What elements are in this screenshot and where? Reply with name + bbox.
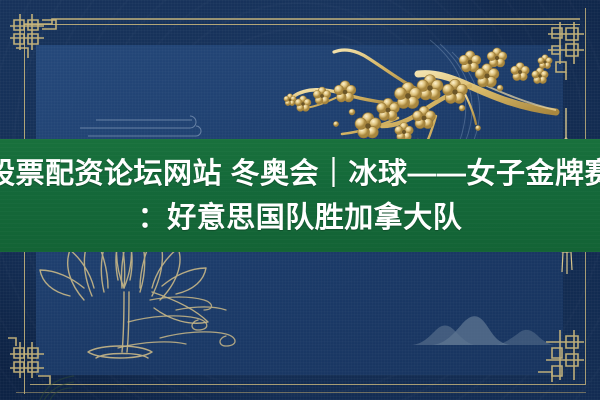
frame-line-top	[24, 24, 580, 25]
frame-line-bottom	[30, 384, 586, 385]
title-line-1: 股票配资论坛网站 冬奥会｜冰球——女子金牌赛	[0, 152, 600, 196]
frame-line-bottom-outer	[16, 392, 586, 393]
grass-leaf	[40, 376, 74, 400]
title-line-2: ：好意思国队胜加拿大队	[138, 196, 463, 240]
poster-canvas: 股票配资论坛网站 冬奥会｜冰球——女子金牌赛 ：好意思国队胜加拿大队	[0, 0, 600, 400]
page-title: 股票配资论坛网站 冬奥会｜冰球——女子金牌赛 ：好意思国队胜加拿大队	[0, 139, 600, 252]
